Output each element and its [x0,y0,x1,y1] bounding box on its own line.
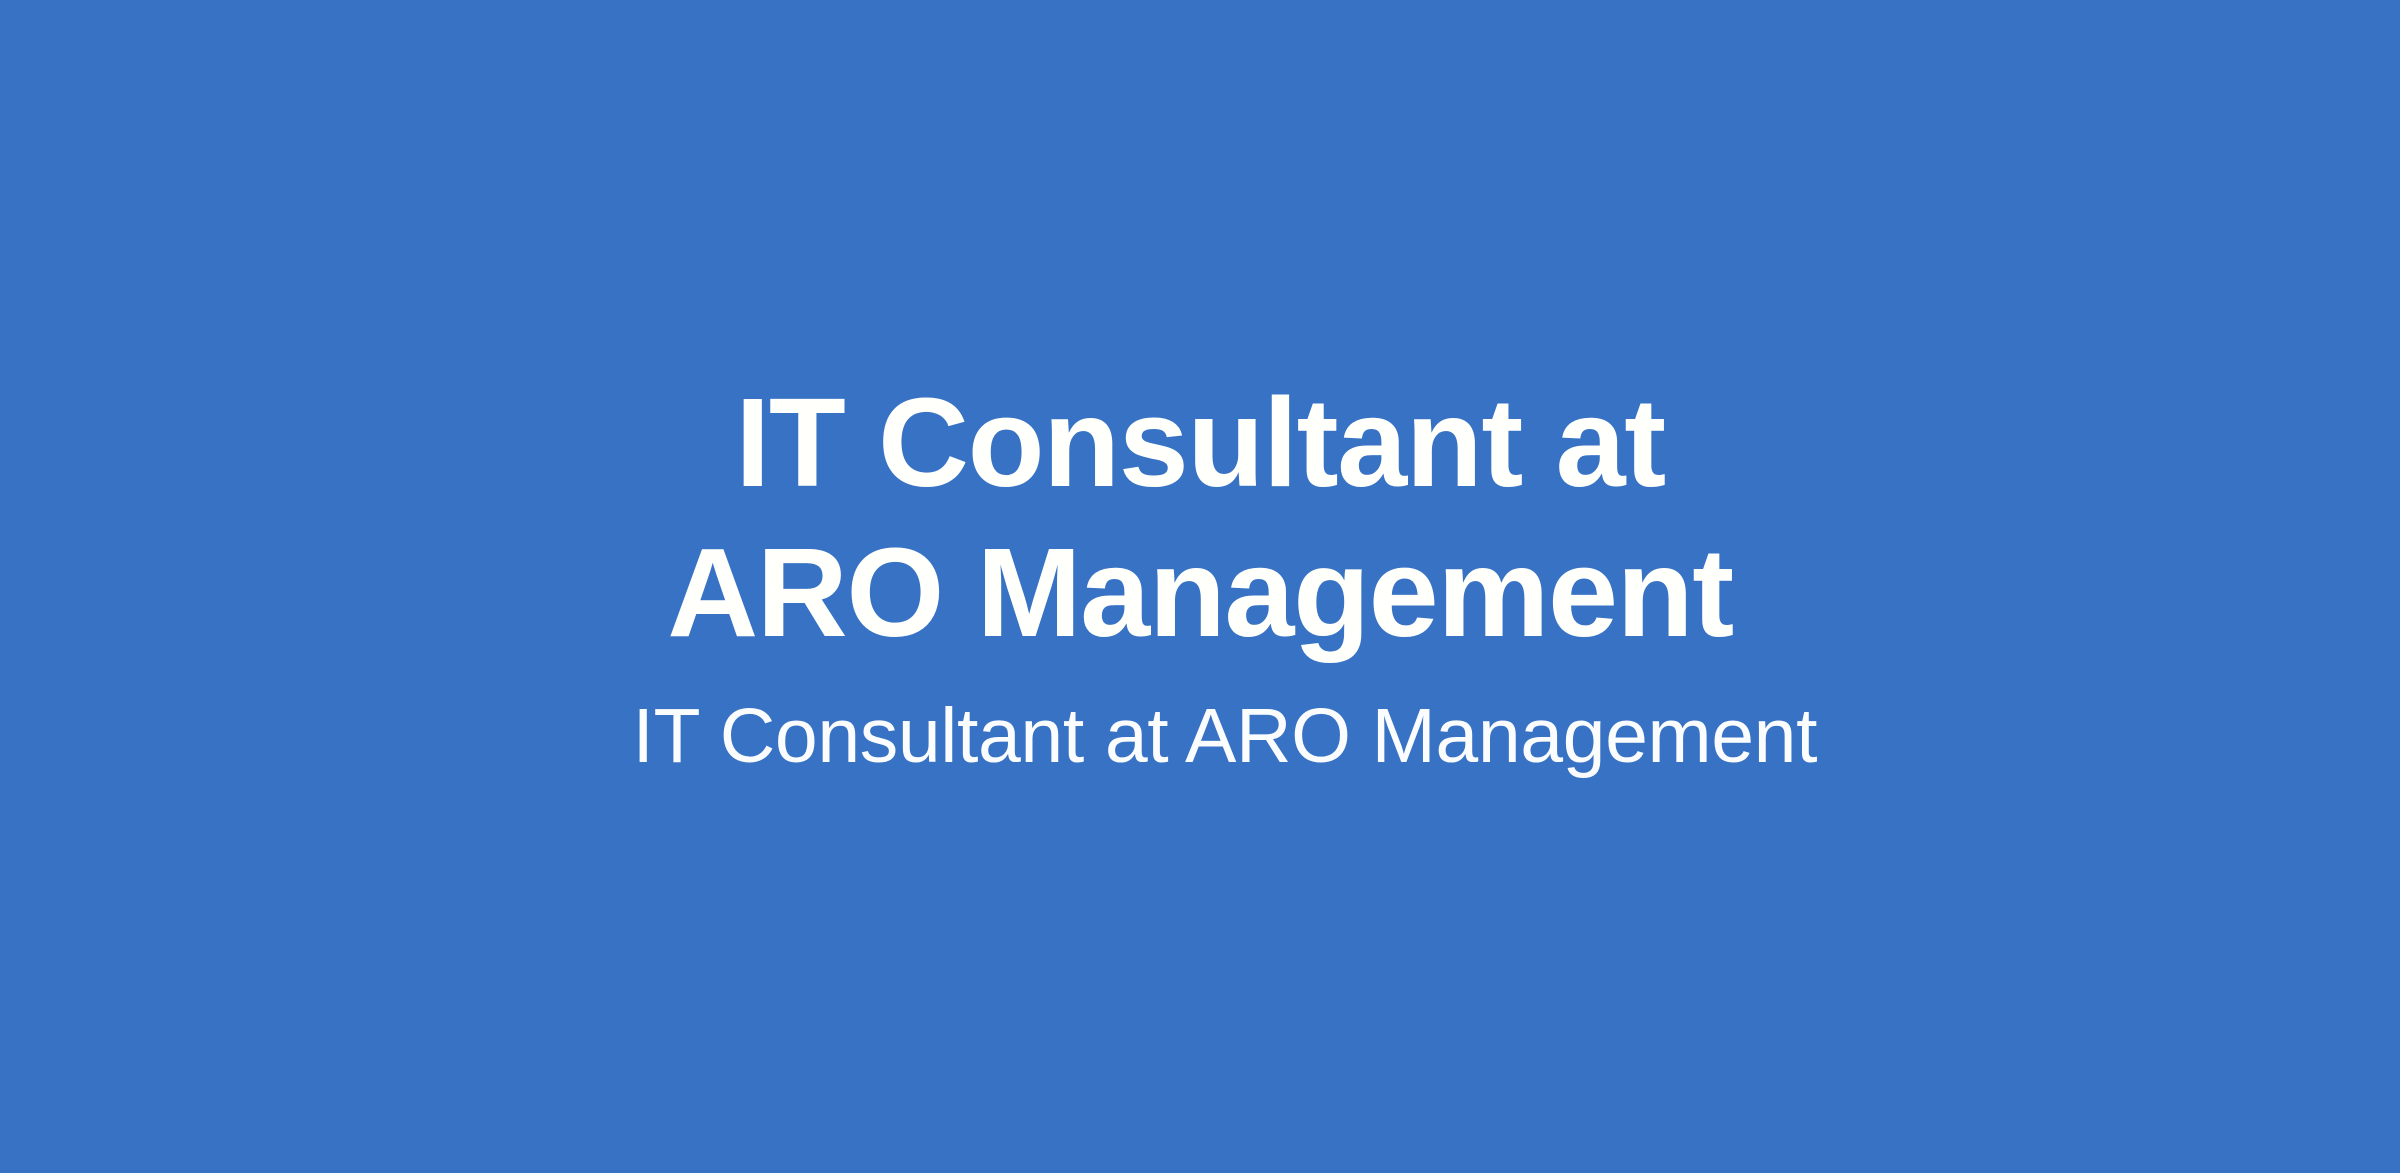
page-subtitle: IT Consultant at ARO Management [633,668,1768,782]
hero-content: IT Consultant at ARO Management IT Consu… [633,368,1768,782]
hero-banner: IT Consultant at ARO Management IT Consu… [0,0,2400,1173]
page-title: IT Consultant at ARO Management [633,368,1768,668]
